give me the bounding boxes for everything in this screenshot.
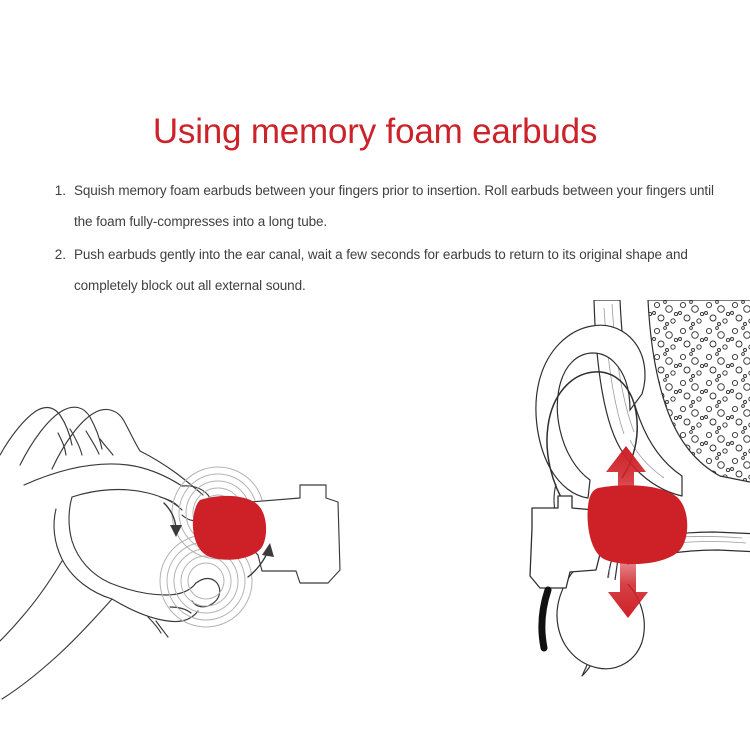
- wrist-outline-bottom: [0, 561, 62, 641]
- compressed-foam-tip: [193, 496, 266, 560]
- step-number: 1.: [40, 175, 74, 206]
- expanding-foam-tip: [588, 485, 688, 564]
- page-title: Using memory foam earbuds: [0, 110, 750, 154]
- wrist-outline-top: [2, 599, 112, 699]
- hand-knuckle-3: [52, 410, 140, 469]
- page-root: Using memory foam earbuds 1. Squish memo…: [0, 0, 750, 750]
- thumb-body-bottom: [112, 599, 198, 622]
- thumb-outline-left-2: [54, 509, 112, 599]
- ear-cross-section-illustration: [470, 300, 750, 700]
- thumb-tip: [192, 579, 220, 607]
- hand-web-curve: [24, 464, 182, 486]
- index-finger-bottom: [72, 490, 182, 510]
- hand-squeezing-earbud-illustration: [0, 385, 380, 715]
- step-text: Push earbuds gently into the ear canal, …: [74, 239, 720, 301]
- temporal-bone-texture: [648, 300, 750, 484]
- hand-knuckle-1: [0, 408, 72, 455]
- knuckle-crease-3: [86, 431, 99, 454]
- earbud-cable: [542, 590, 548, 648]
- index-finger-top: [140, 451, 203, 495]
- knuckle-crease-1: [58, 433, 66, 455]
- list-item: 1. Squish memory foam earbuds between yo…: [40, 175, 720, 237]
- thumb-outline-left: [69, 497, 110, 583]
- thumb-body-top: [110, 583, 196, 595]
- step-text: Squish memory foam earbuds between your …: [74, 175, 720, 237]
- list-item: 2. Push earbuds gently into the ear cana…: [40, 239, 720, 301]
- step-number: 2.: [40, 239, 74, 270]
- instruction-list: 1. Squish memory foam earbuds between yo…: [40, 175, 720, 303]
